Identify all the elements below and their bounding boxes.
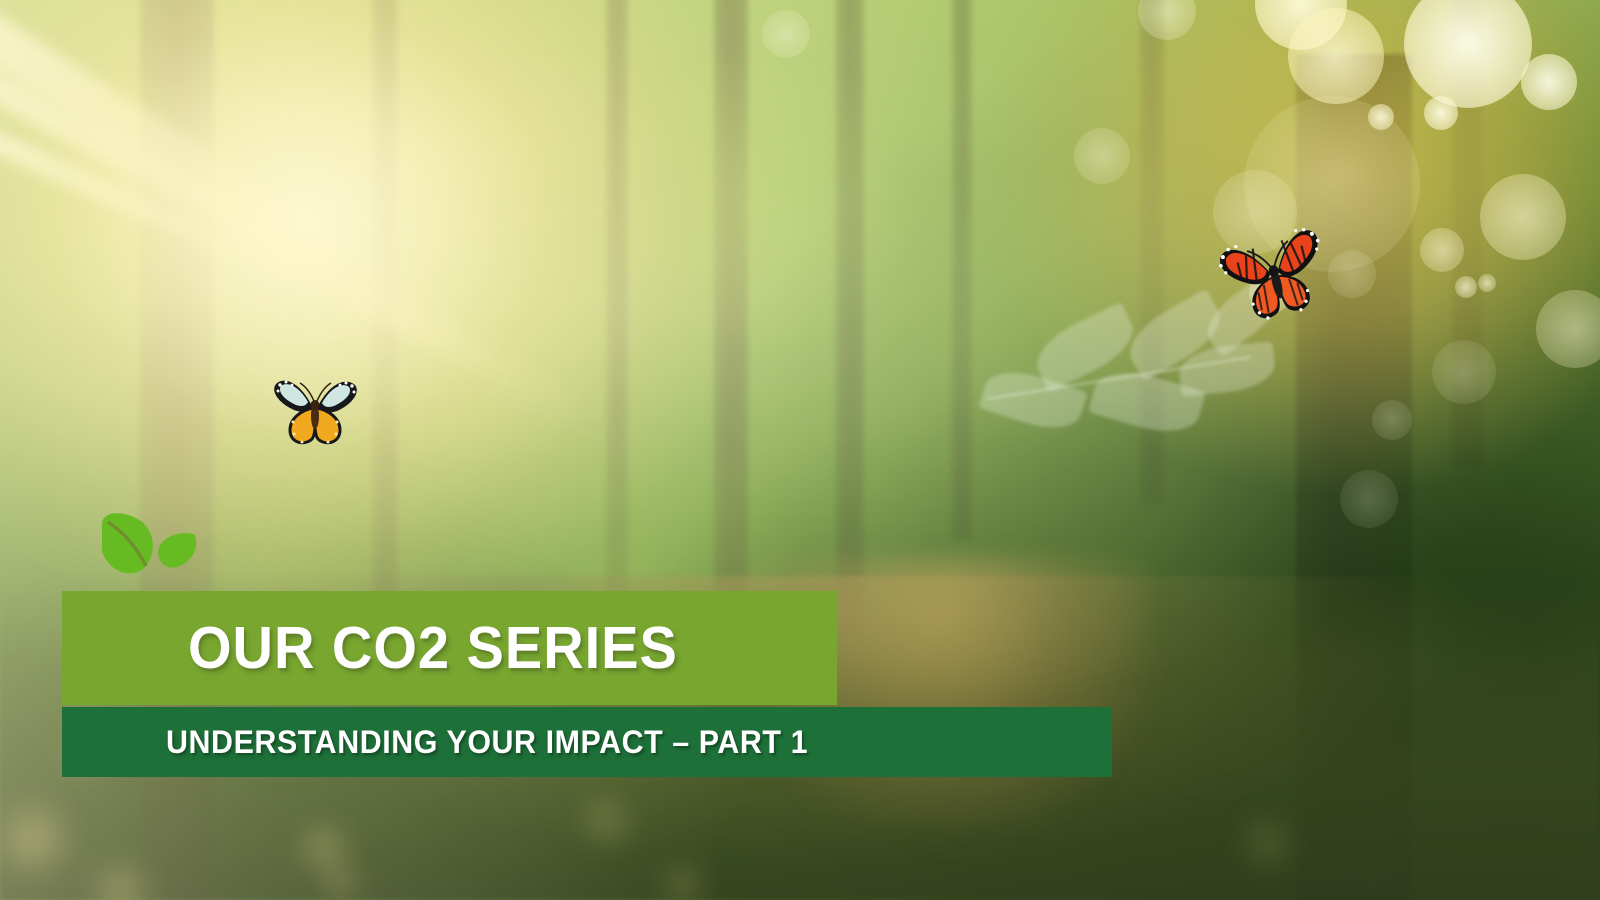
butterfly-yellow-icon	[268, 372, 364, 448]
primary-title-banner: OUR CO2 SERIES	[62, 591, 837, 705]
butterfly-orange-icon	[1216, 228, 1334, 324]
page-subtitle: UNDERSTANDING YOUR IMPACT – PART 1	[166, 724, 808, 761]
leaf-icon	[98, 508, 202, 582]
page-title: OUR CO2 SERIES	[188, 614, 678, 682]
secondary-subtitle-banner: UNDERSTANDING YOUR IMPACT – PART 1	[62, 707, 1112, 777]
hero-banner-image: OUR CO2 SERIES UNDERSTANDING YOUR IMPACT…	[0, 0, 1600, 900]
butterfly-yellow	[268, 372, 364, 448]
two-leaf-sprout-logo	[98, 508, 202, 582]
butterfly-orange	[1216, 228, 1334, 324]
